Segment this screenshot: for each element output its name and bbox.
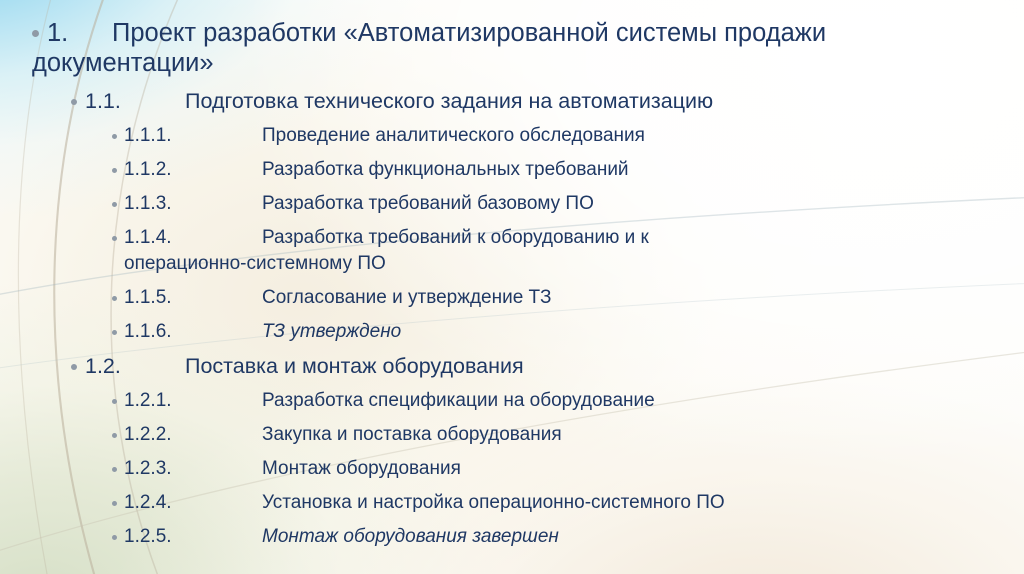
outline-item-text-continued: документации» — [32, 48, 214, 78]
spacer — [0, 311, 1024, 319]
outline-item-1-1[interactable]: 1.1. Подготовка технического задания на … — [0, 87, 1024, 116]
spacer — [0, 149, 1024, 157]
spacer — [0, 217, 1024, 225]
bullet-dot-icon — [112, 399, 117, 404]
outline-item-1-2-2[interactable]: 1.2.2. Закупка и поставка оборудования — [0, 422, 1024, 448]
bullet-dot-icon — [112, 330, 117, 335]
bullet-dot-icon — [112, 202, 117, 207]
spacer — [0, 381, 1024, 388]
outline-item-1-1-4-continuation[interactable]: операционно-системному ПО — [0, 251, 1024, 277]
spacer — [0, 516, 1024, 524]
outline-item-text: Подготовка технического задания на автом… — [185, 87, 713, 116]
bullet-dot-icon — [112, 535, 117, 540]
outline-item-1-2-3[interactable]: 1.2.3. Монтаж оборудования — [0, 456, 1024, 482]
outline-item-text: Монтаж оборудования завершен — [262, 524, 559, 550]
outline-item-1-continuation[interactable]: документации» — [0, 48, 1024, 78]
bullet-dot-icon — [71, 99, 77, 105]
outline-item-text: Согласование и утверждение ТЗ — [262, 285, 551, 311]
spacer — [0, 345, 1024, 352]
outline-item-1-1-3[interactable]: 1.1.3. Разработка требований базовому ПО — [0, 191, 1024, 217]
outline-item-text: Разработка требований к оборудованию и к — [262, 225, 649, 251]
outline-item-number: 1.2.5. — [124, 524, 172, 550]
bullet-dot-icon — [112, 134, 117, 139]
bullet-dot-icon — [112, 168, 117, 173]
outline-item-1-1-2[interactable]: 1.1.2. Разработка функциональных требова… — [0, 157, 1024, 183]
bullet-dot-icon — [71, 364, 77, 370]
bullet-dot-icon — [112, 433, 117, 438]
outline-item-text: Установка и настройка операционно-систем… — [262, 490, 725, 516]
slide-canvas: 1. Проект разработки «Автоматизированной… — [0, 0, 1024, 574]
spacer — [0, 277, 1024, 285]
spacer — [0, 116, 1024, 123]
outline-item-1[interactable]: 1. Проект разработки «Автоматизированной… — [0, 18, 1024, 48]
outline-item-number: 1.2.2. — [124, 422, 172, 448]
outline-item-number: 1.2.4. — [124, 490, 172, 516]
outline-item-1-2-5[interactable]: 1.2.5. Монтаж оборудования завершен — [0, 524, 1024, 550]
outline-item-1-1-6[interactable]: 1.1.6. ТЗ утверждено — [0, 319, 1024, 345]
outline-item-text: Закупка и поставка оборудования — [262, 422, 562, 448]
outline-item-number: 1.2.1. — [124, 388, 172, 414]
outline-item-number: 1.1.2. — [124, 157, 172, 183]
outline-item-text: Разработка спецификации на оборудование — [262, 388, 655, 414]
outline-item-1-2[interactable]: 1.2. Поставка и монтаж оборудования — [0, 352, 1024, 381]
bullet-dot-icon — [112, 236, 117, 241]
outline-item-number: 1.1. — [85, 87, 121, 116]
outline-item-1-2-4[interactable]: 1.2.4. Установка и настройка операционно… — [0, 490, 1024, 516]
outline-item-text: Монтаж оборудования — [262, 456, 461, 482]
outline-item-1-1-1[interactable]: 1.1.1. Проведение аналитического обследо… — [0, 123, 1024, 149]
spacer — [0, 448, 1024, 456]
outline-item-number: 1. — [47, 18, 68, 48]
outline-item-1-1-4[interactable]: 1.1.4. Разработка требований к оборудова… — [0, 225, 1024, 251]
outline-item-1-1-5[interactable]: 1.1.5. Согласование и утверждение ТЗ — [0, 285, 1024, 311]
outline-item-number: 1.2. — [85, 352, 121, 381]
spacer — [0, 183, 1024, 191]
bullet-dot-icon — [112, 296, 117, 301]
outline-item-text: Разработка требований базовому ПО — [262, 191, 594, 217]
outline-item-number: 1.1.3. — [124, 191, 172, 217]
outline-item-text: Проект разработки «Автоматизированной си… — [112, 18, 826, 48]
spacer — [0, 482, 1024, 490]
outline-list: 1. Проект разработки «Автоматизированной… — [0, 0, 1024, 574]
outline-item-text: Разработка функциональных требований — [262, 157, 629, 183]
outline-item-number: 1.1.6. — [124, 319, 172, 345]
bullet-dot-icon — [112, 467, 117, 472]
outline-item-number: 1.1.1. — [124, 123, 172, 149]
spacer — [0, 78, 1024, 87]
outline-item-number: 1.2.3. — [124, 456, 172, 482]
outline-item-text: Проведение аналитического обследования — [262, 123, 645, 149]
spacer — [0, 414, 1024, 422]
outline-item-text: ТЗ утверждено — [262, 319, 401, 345]
bullet-dot-icon — [32, 30, 39, 37]
outline-item-text-continued: операционно-системному ПО — [124, 251, 386, 277]
bullet-dot-icon — [112, 501, 117, 506]
outline-item-1-2-1[interactable]: 1.2.1. Разработка спецификации на оборуд… — [0, 388, 1024, 414]
outline-item-text: Поставка и монтаж оборудования — [185, 352, 524, 381]
outline-item-number: 1.1.4. — [124, 225, 172, 251]
outline-item-number: 1.1.5. — [124, 285, 172, 311]
